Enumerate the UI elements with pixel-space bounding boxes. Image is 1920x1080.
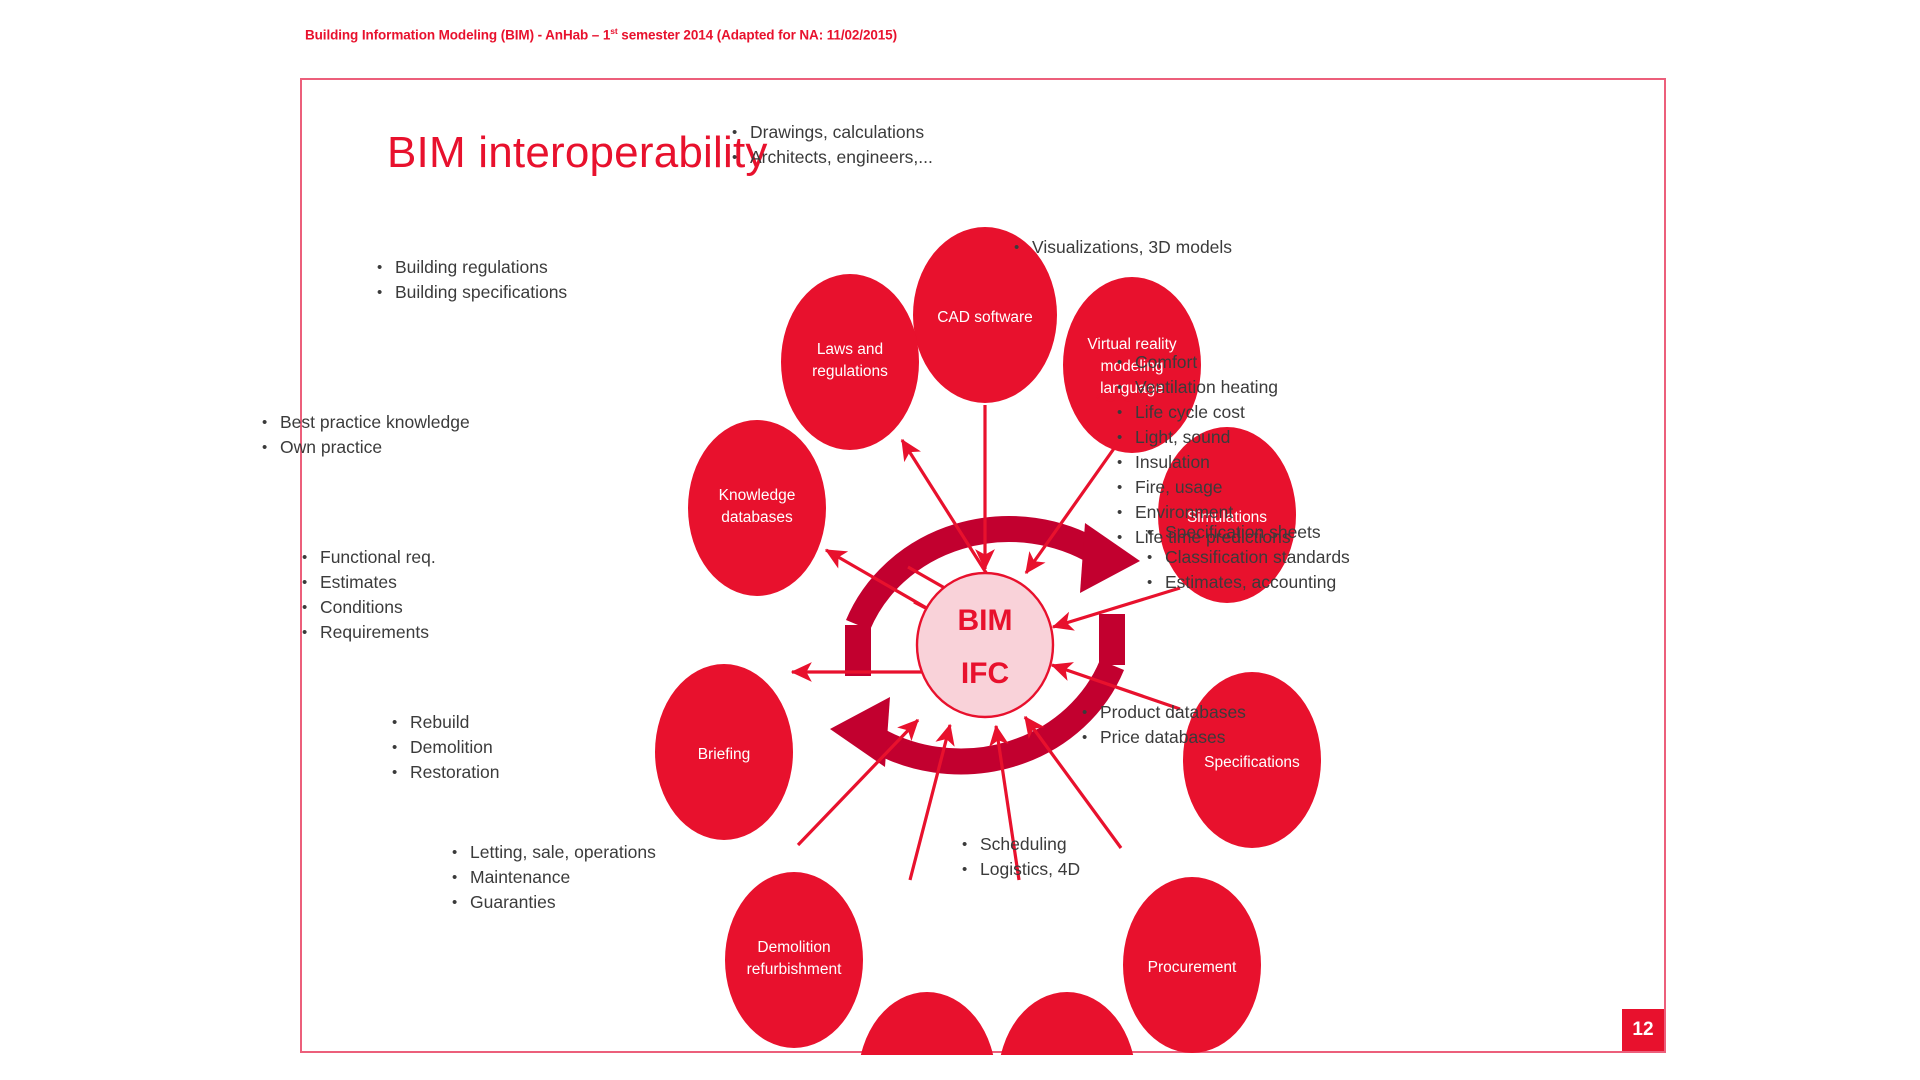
bullet-icon: • <box>392 760 410 785</box>
note-text: Own practice <box>280 435 382 460</box>
note-text: Logistics, 4D <box>980 857 1080 882</box>
center-label-bim: BIM <box>958 604 1013 637</box>
node-procurement[interactable]: Procurement <box>1123 877 1261 1053</box>
list-item: •Functional req. <box>302 545 436 570</box>
list-item: •Price databases <box>1082 725 1246 750</box>
list-item: •Insulation <box>1117 450 1291 475</box>
bullet-icon: • <box>1117 475 1135 500</box>
bullet-icon: • <box>1117 450 1135 475</box>
bullet-icon: • <box>377 280 395 305</box>
node-label-knowledge-2: databases <box>721 509 793 526</box>
node-label-knowledge-1: Knowledge <box>719 487 796 504</box>
bullet-icon: • <box>732 145 750 170</box>
list-item: •Comfort <box>1117 350 1291 375</box>
bullet-icon: • <box>1147 570 1165 595</box>
bullet-icon: • <box>1117 525 1135 550</box>
note-specifications: •Specification sheets •Classification st… <box>1147 520 1350 595</box>
note-text: Rebuild <box>410 710 469 735</box>
page-number-badge: 12 <box>1622 1009 1664 1051</box>
note-text: Product databases <box>1100 700 1246 725</box>
list-item: •Classification standards <box>1147 545 1350 570</box>
list-item: •Building specifications <box>377 280 567 305</box>
bullet-icon: • <box>1117 375 1135 400</box>
bullet-icon: • <box>1117 500 1135 525</box>
list-item: •Conditions <box>302 595 436 620</box>
note-demolition-refurbishment: •Rebuild •Demolition •Restoration <box>392 710 500 785</box>
list-item: •Demolition <box>392 735 500 760</box>
list-item: •Estimates, accounting <box>1147 570 1350 595</box>
node-label-procurement: Procurement <box>1148 959 1237 976</box>
list-item: •Ventilation heating <box>1117 375 1291 400</box>
note-text: Functional req. <box>320 545 436 570</box>
note-virtual-reality: •Visualizations, 3D models <box>1014 235 1232 260</box>
node-demolition-refurbishment[interactable]: Demolition refurbishment <box>725 872 863 1048</box>
node-label-demolition-2: refurbishment <box>747 961 842 978</box>
node-label-demolition-1: Demolition <box>757 939 830 956</box>
bullet-icon: • <box>302 545 320 570</box>
note-text: Conditions <box>320 595 403 620</box>
note-cad-software: •Drawings, calculations •Architects, eng… <box>732 120 933 170</box>
note-text: Scheduling <box>980 832 1067 857</box>
node-briefing[interactable]: Briefing <box>655 664 793 840</box>
note-text: Guaranties <box>470 890 556 915</box>
bullet-icon: • <box>962 832 980 857</box>
node-laws-and-regulations[interactable]: Laws and regulations <box>781 274 919 450</box>
center-node-bim-ifc[interactable]: BIM IFC <box>917 573 1053 717</box>
note-text: Requirements <box>320 620 429 645</box>
note-text: Best practice knowledge <box>280 410 470 435</box>
bullet-icon: • <box>452 890 470 915</box>
note-text: Estimates, accounting <box>1165 570 1336 595</box>
note-text: Life cycle cost <box>1135 400 1245 425</box>
bullet-icon: • <box>1117 350 1135 375</box>
note-knowledge-databases: •Best practice knowledge •Own practice <box>262 410 470 460</box>
list-item: •Requirements <box>302 620 436 645</box>
note-text: Letting, sale, operations <box>470 840 656 865</box>
bullet-icon: • <box>1082 700 1100 725</box>
note-text: Fire, usage <box>1135 475 1223 500</box>
bullet-icon: • <box>1082 725 1100 750</box>
list-item: •Logistics, 4D <box>962 857 1080 882</box>
node-label-specifications: Specifications <box>1204 754 1300 771</box>
bullet-icon: • <box>962 857 980 882</box>
list-item: •Own practice <box>262 435 470 460</box>
list-item: •Building regulations <box>377 255 567 280</box>
list-item: •Specification sheets <box>1147 520 1350 545</box>
list-item: •Product databases <box>1082 700 1246 725</box>
note-facility-management: •Letting, sale, operations •Maintenance … <box>452 840 656 915</box>
bullet-icon: • <box>262 410 280 435</box>
note-text: Light, sound <box>1135 425 1230 450</box>
note-construction-management: •Scheduling •Logistics, 4D <box>962 832 1080 882</box>
note-text: Demolition <box>410 735 493 760</box>
bullet-icon: • <box>377 255 395 280</box>
note-text: Building specifications <box>395 280 567 305</box>
center-label-ifc: IFC <box>961 657 1009 690</box>
bullet-icon: • <box>392 710 410 735</box>
bullet-icon: • <box>1117 425 1135 450</box>
bullet-icon: • <box>1147 545 1165 570</box>
list-item: •Fire, usage <box>1117 475 1291 500</box>
note-text: Classification standards <box>1165 545 1350 570</box>
slide-frame: BIM interoperability <box>300 78 1666 1053</box>
node-label-cad-software: CAD software <box>937 309 1033 326</box>
node-label-laws-2: regulations <box>812 363 888 380</box>
node-label-laws-1: Laws and <box>817 341 883 358</box>
document-header: Building Information Modeling (BIM) - An… <box>305 26 897 43</box>
list-item: •Estimates <box>302 570 436 595</box>
header-ordinal-suffix: st <box>610 26 617 36</box>
bullet-icon: • <box>1014 235 1032 260</box>
bullet-icon: • <box>302 595 320 620</box>
note-text: Comfort <box>1135 350 1197 375</box>
note-briefing: •Functional req. •Estimates •Conditions … <box>302 545 436 645</box>
list-item: •Restoration <box>392 760 500 785</box>
list-item: •Rebuild <box>392 710 500 735</box>
bullet-icon: • <box>262 435 280 460</box>
note-text: Drawings, calculations <box>750 120 924 145</box>
bullet-icon: • <box>392 735 410 760</box>
node-knowledge-databases[interactable]: Knowledge databases <box>688 420 826 596</box>
bullet-icon: • <box>1147 520 1165 545</box>
note-laws-and-regulations: •Building regulations •Building specific… <box>377 255 567 305</box>
list-item: •Life cycle cost <box>1117 400 1291 425</box>
node-facility-management[interactable]: Facility management <box>858 992 996 1055</box>
bullet-icon: • <box>732 120 750 145</box>
list-item: •Scheduling <box>962 832 1080 857</box>
header-suffix: semester 2014 (Adapted for NA: 11/02/201… <box>618 28 897 43</box>
list-item: •Best practice knowledge <box>262 410 470 435</box>
note-text: Specification sheets <box>1165 520 1321 545</box>
bullet-icon: • <box>302 620 320 645</box>
list-item: •Visualizations, 3D models <box>1014 235 1232 260</box>
note-procurement: •Product databases •Price databases <box>1082 700 1246 750</box>
note-text: Building regulations <box>395 255 548 280</box>
note-text: Maintenance <box>470 865 570 890</box>
note-text: Price databases <box>1100 725 1226 750</box>
list-item: •Letting, sale, operations <box>452 840 656 865</box>
note-text: Ventilation heating <box>1135 375 1278 400</box>
note-text: Restoration <box>410 760 500 785</box>
bullet-icon: • <box>302 570 320 595</box>
note-text: Insulation <box>1135 450 1210 475</box>
list-item: •Architects, engineers,... <box>732 145 933 170</box>
node-specifications[interactable]: Specifications <box>1183 672 1321 848</box>
note-text: Architects, engineers,... <box>750 145 933 170</box>
list-item: •Maintenance <box>452 865 656 890</box>
header-prefix: Building Information Modeling (BIM) - An… <box>305 28 610 43</box>
node-label-briefing: Briefing <box>698 746 751 763</box>
bullet-icon: • <box>452 865 470 890</box>
note-text: Visualizations, 3D models <box>1032 235 1232 260</box>
bullet-icon: • <box>452 840 470 865</box>
bullet-icon: • <box>1117 400 1135 425</box>
list-item: •Guaranties <box>452 890 656 915</box>
list-item: •Light, sound <box>1117 425 1291 450</box>
node-construction-management[interactable]: Construction management <box>998 992 1136 1055</box>
list-item: •Drawings, calculations <box>732 120 933 145</box>
note-text: Estimates <box>320 570 397 595</box>
